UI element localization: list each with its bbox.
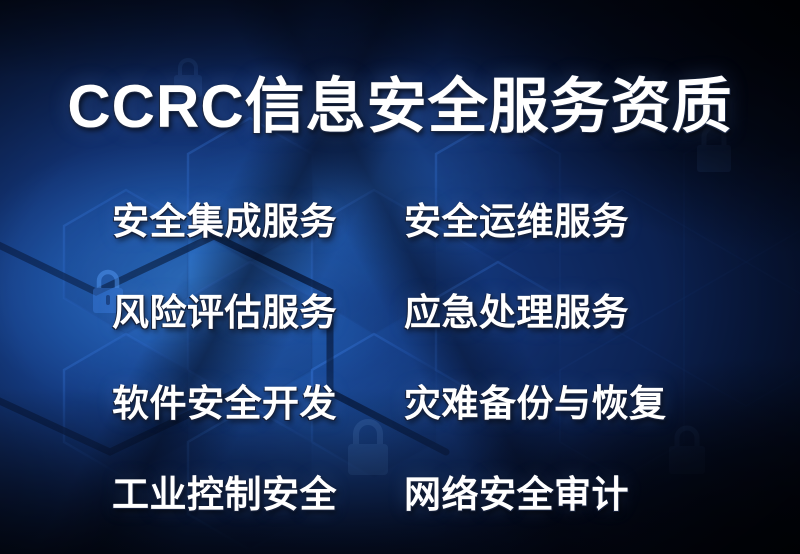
qualification-item: 风险评估服务 — [112, 282, 404, 336]
qualification-row: 安全集成服务 安全运维服务 — [112, 172, 708, 263]
poster-content: CCRC信息安全服务资质 安全集成服务 安全运维服务 风险评估服务 应急处理服务… — [0, 0, 800, 554]
qualification-item: 灾难备份与恢复 — [404, 373, 667, 427]
qualification-row: 软件安全开发 灾难备份与恢复 — [112, 354, 708, 445]
qualification-item: 应急处理服务 — [404, 282, 629, 336]
page-title: CCRC信息安全服务资质 — [0, 58, 800, 145]
qualification-grid: 安全集成服务 安全运维服务 风险评估服务 应急处理服务 软件安全开发 灾难备份与… — [112, 172, 708, 536]
qualification-item: 安全集成服务 — [112, 191, 404, 245]
qualification-item: 工业控制安全 — [112, 464, 404, 518]
qualification-row: 风险评估服务 应急处理服务 — [112, 263, 708, 354]
qualification-row: 工业控制安全 网络安全审计 — [112, 445, 708, 536]
qualification-item: 安全运维服务 — [404, 191, 629, 245]
qualification-item: 软件安全开发 — [112, 373, 404, 427]
ccrc-qualification-poster: CCRC信息安全服务资质 安全集成服务 安全运维服务 风险评估服务 应急处理服务… — [0, 0, 800, 554]
qualification-item: 网络安全审计 — [404, 464, 629, 518]
